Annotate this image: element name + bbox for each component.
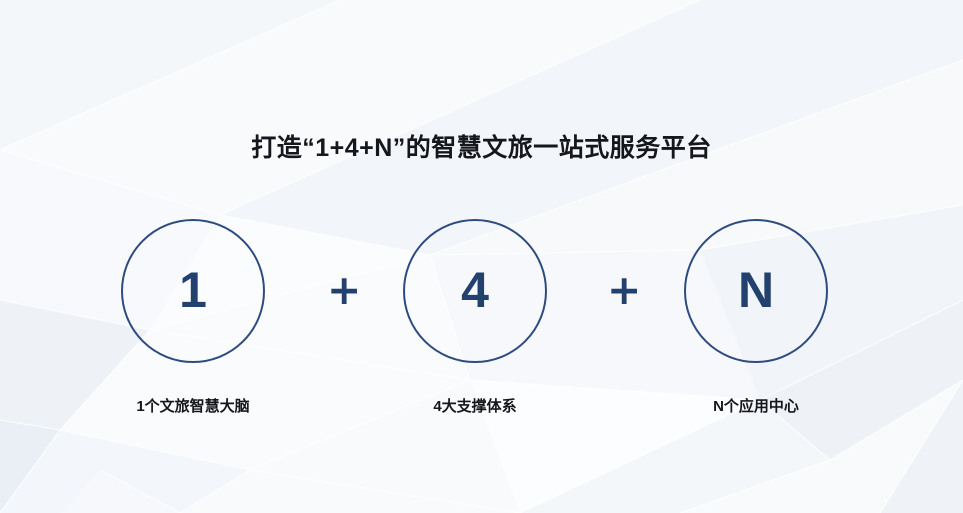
caption-node-1: 1个文旅智慧大脑 bbox=[83, 396, 303, 418]
circle-node-4: 4 bbox=[403, 219, 547, 363]
slide-canvas: 打造“1+4+N”的智慧文旅一站式服务平台 1 + 4 + N 1个文旅智慧大脑… bbox=[0, 0, 963, 513]
plus-icon-2: + bbox=[607, 276, 637, 306]
caption-node-4: 4大支撑体系 bbox=[365, 396, 585, 418]
caption-node-n: N个应用中心 bbox=[646, 396, 866, 418]
one-four-n-diagram: 1 + 4 + N bbox=[0, 219, 963, 363]
diagram-captions: 1个文旅智慧大脑 4大支撑体系 N个应用中心 bbox=[0, 396, 963, 422]
circle-node-n-symbol: N bbox=[738, 265, 774, 315]
plus-icon-1: + bbox=[327, 276, 357, 306]
circle-node-n: N bbox=[684, 219, 828, 363]
circle-node-1: 1 bbox=[121, 219, 265, 363]
circle-node-4-symbol: 4 bbox=[461, 265, 489, 315]
page-title: 打造“1+4+N”的智慧文旅一站式服务平台 bbox=[0, 133, 963, 163]
circle-node-1-symbol: 1 bbox=[179, 265, 207, 315]
